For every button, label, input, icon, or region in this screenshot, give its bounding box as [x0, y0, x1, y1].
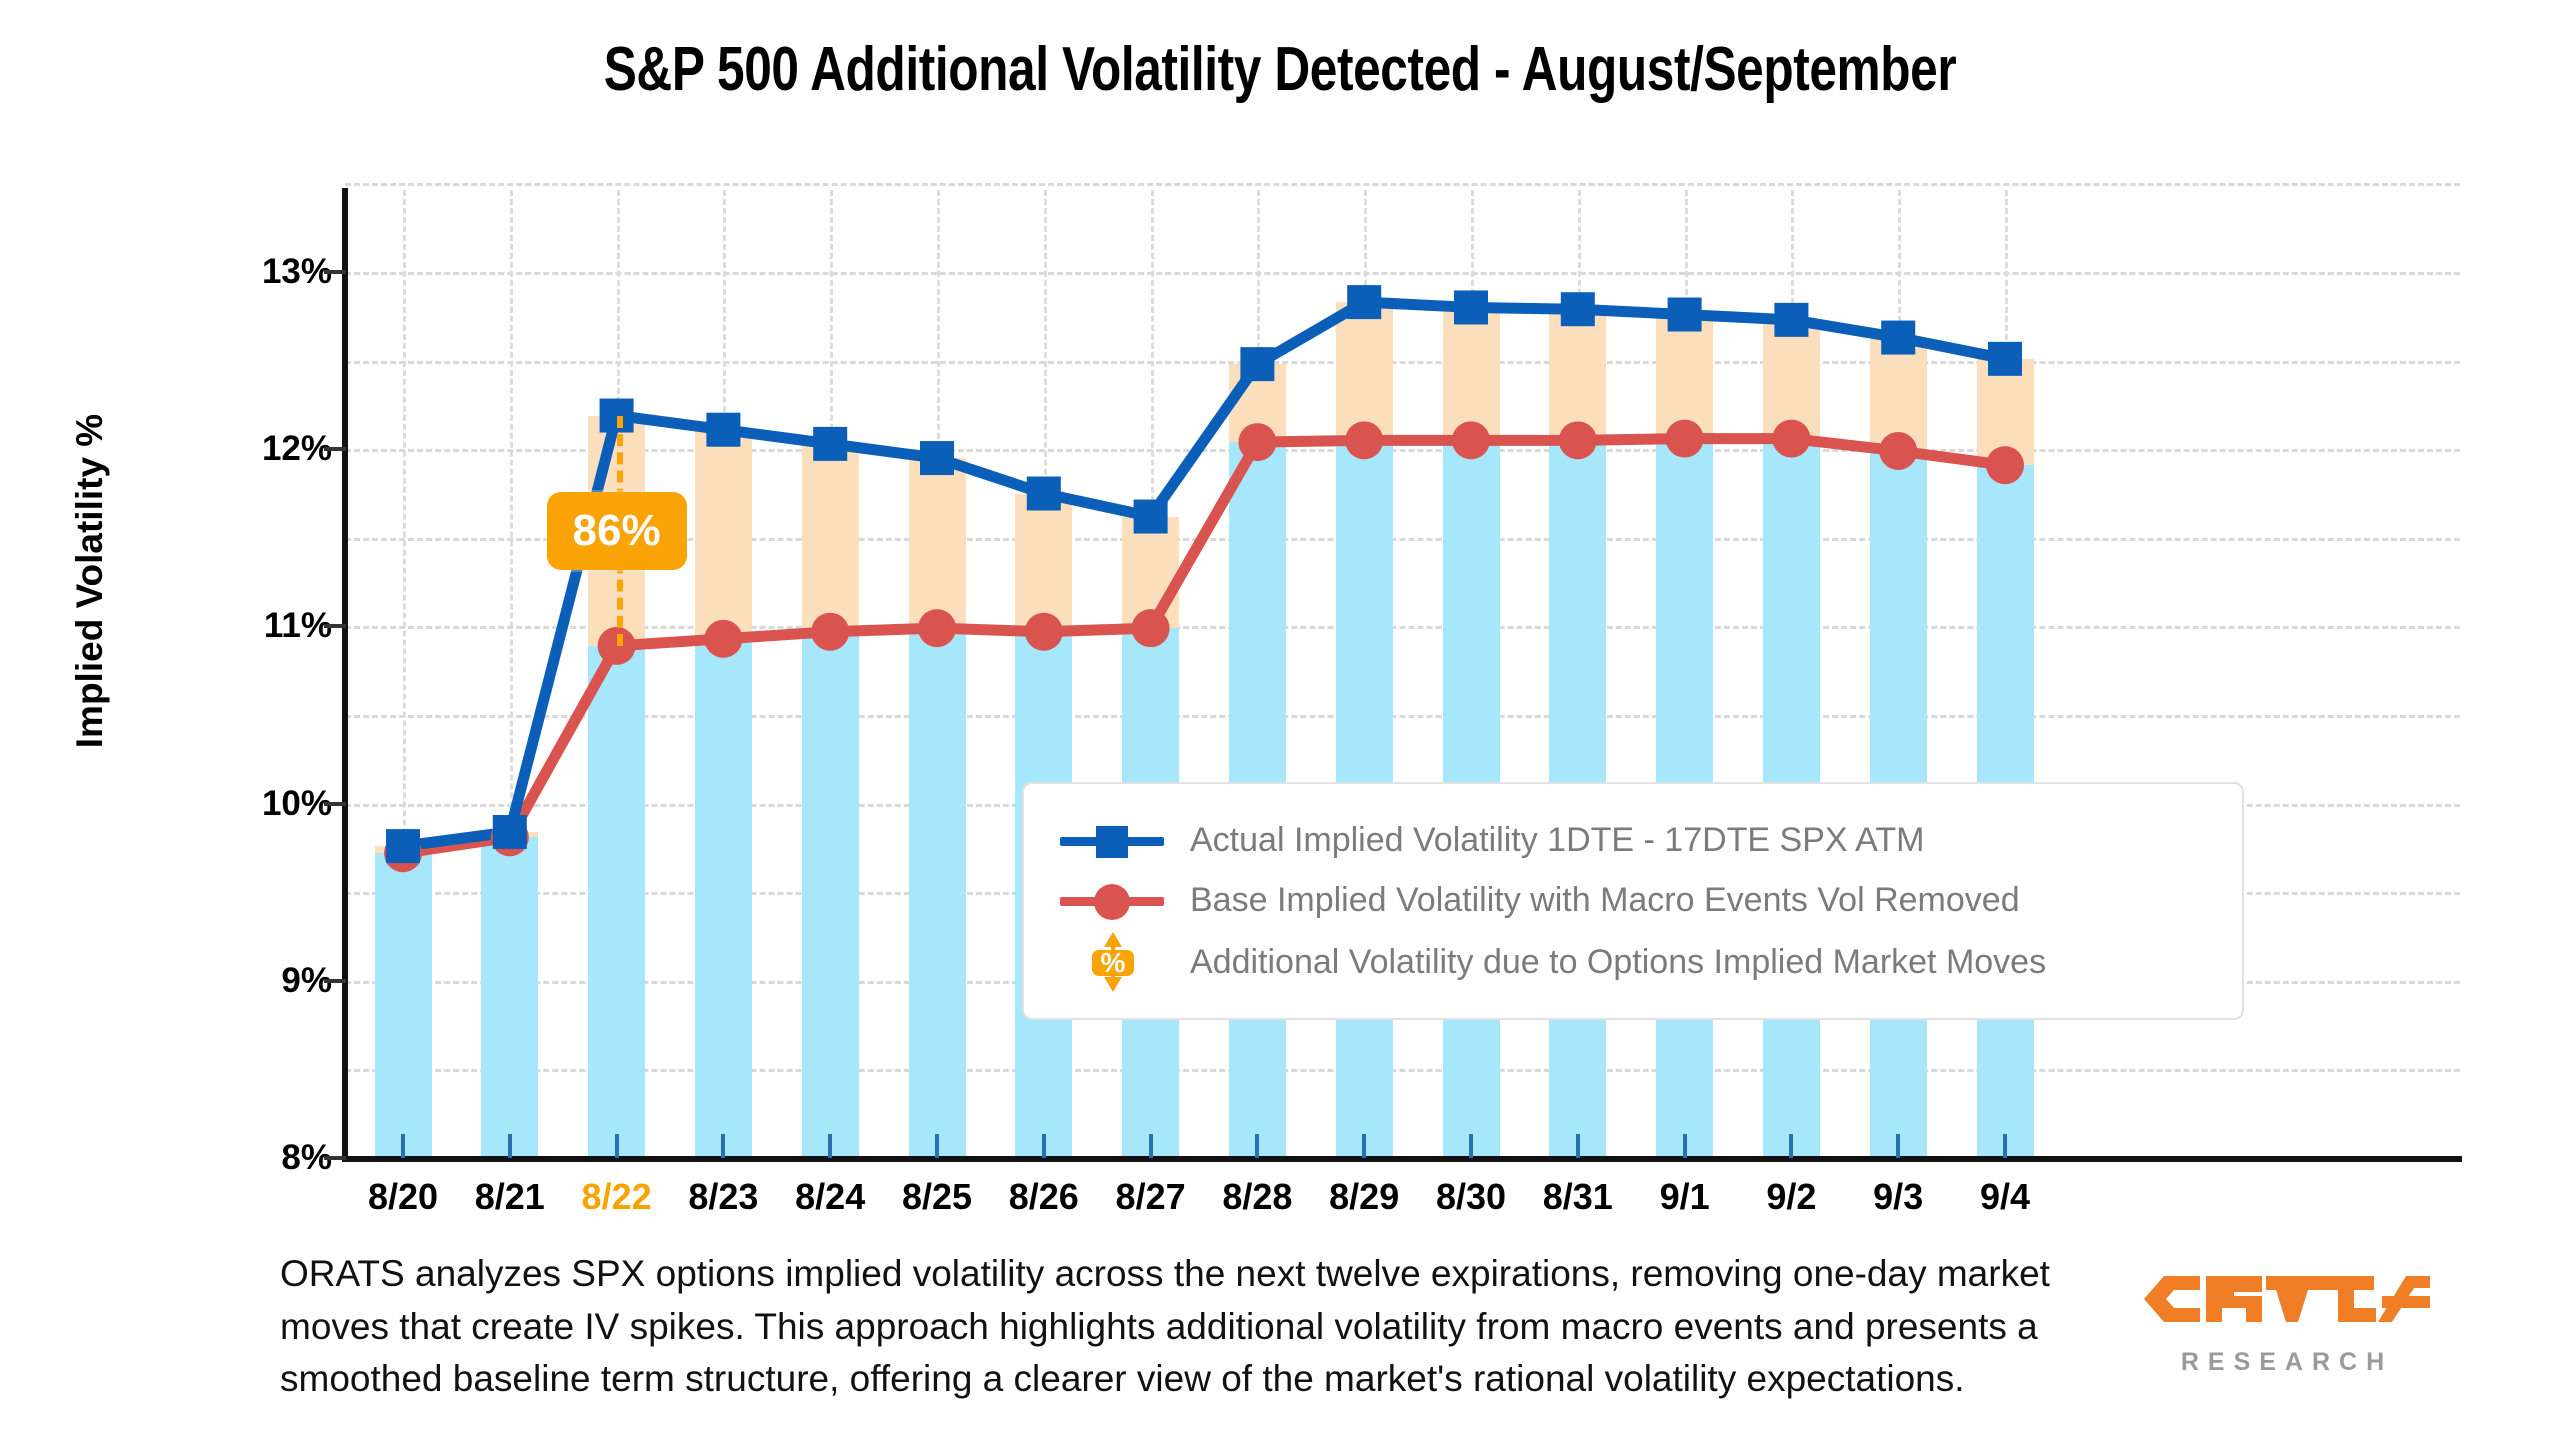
y-tick-mark: [324, 624, 346, 628]
x-tick-label-9-1: 9/1: [1660, 1176, 1710, 1218]
legend-item-base-iv[interactable]: Base Implied Volatility with Macro Event…: [1052, 870, 2020, 930]
actual-volatility-line: [403, 302, 2005, 846]
x-tick-label-8-30: 8/30: [1436, 1176, 1506, 1218]
x-tick-mark: [721, 1134, 725, 1158]
actual-point-8-24: [813, 427, 847, 461]
x-tick-label-8-28: 8/28: [1222, 1176, 1292, 1218]
legend-label-additional-vol: Additional Volatility due to Options Imp…: [1190, 943, 2046, 982]
y-tick-mark: [324, 802, 346, 806]
actual-point-8-31: [1561, 292, 1595, 326]
x-tick-mark: [401, 1134, 405, 1158]
x-tick-mark: [1896, 1134, 1900, 1158]
base-point-8-26: [1025, 613, 1063, 651]
x-tick-label-8-27: 8/27: [1116, 1176, 1186, 1218]
x-tick-mark: [1576, 1134, 1580, 1158]
legend-label-base-iv: Base Implied Volatility with Macro Event…: [1190, 881, 2020, 920]
x-tick-mark: [1362, 1134, 1366, 1158]
x-tick-mark: [1255, 1134, 1259, 1158]
x-tick-label-9-3: 9/3: [1873, 1176, 1923, 1218]
base-point-8-24: [811, 613, 849, 651]
base-iv-circle-marker-icon: [1052, 870, 1172, 930]
x-tick-label-9-4: 9/4: [1980, 1176, 2030, 1218]
y-axis-title: Implied Volatility %: [69, 341, 111, 821]
y-tick-label-11pct: 11%: [264, 606, 332, 646]
base-point-9-1: [1666, 420, 1704, 458]
x-tick-mark: [1149, 1134, 1153, 1158]
x-tick-mark: [1042, 1134, 1046, 1158]
base-point-8-28: [1238, 423, 1276, 461]
base-point-9-2: [1772, 420, 1810, 458]
x-tick-label-8-31: 8/31: [1543, 1176, 1613, 1218]
base-point-9-4: [1986, 446, 2024, 484]
legend-label-actual-iv: Actual Implied Volatility 1DTE - 17DTE S…: [1190, 821, 1924, 860]
actual-point-9-2: [1774, 303, 1808, 337]
actual-point-8-29: [1347, 285, 1381, 319]
x-tick-label-8-23: 8/23: [688, 1176, 758, 1218]
actual-point-9-3: [1881, 321, 1915, 355]
gridline-horizontal: [345, 183, 2460, 186]
x-tick-mark: [828, 1134, 832, 1158]
additional-volatility-callout[interactable]: 86%: [547, 492, 687, 570]
x-tick-mark: [1683, 1134, 1687, 1158]
actual-iv-square-marker-icon: [1052, 810, 1172, 870]
base-point-9-3: [1879, 432, 1917, 470]
legend-item-additional-vol[interactable]: % Additional Volatility due to Options I…: [1052, 932, 2046, 992]
orats-logo-subtitle: RESEARCH: [2142, 1348, 2432, 1377]
x-tick-label-9-2: 9/2: [1766, 1176, 1816, 1218]
actual-point-8-21: [493, 815, 527, 849]
actual-point-8-27: [1134, 500, 1168, 534]
x-tick-label-8-24: 8/24: [795, 1176, 865, 1218]
y-tick-mark: [324, 447, 346, 451]
y-tick-mark: [324, 270, 346, 274]
actual-point-9-4: [1988, 342, 2022, 376]
x-tick-label-8-22: 8/22: [582, 1176, 652, 1218]
footer-description: ORATS analyzes SPX options implied volat…: [280, 1248, 2110, 1406]
x-tick-mark: [508, 1134, 512, 1158]
base-point-8-27: [1132, 609, 1170, 647]
y-tick-label-12pct: 12%: [262, 429, 332, 469]
actual-point-8-30: [1454, 290, 1488, 324]
x-tick-label-8-25: 8/25: [902, 1176, 972, 1218]
base-point-8-31: [1559, 421, 1597, 459]
x-tick-label-8-26: 8/26: [1009, 1176, 1079, 1218]
x-tick-mark: [1789, 1134, 1793, 1158]
x-tick-mark: [935, 1134, 939, 1158]
actual-point-8-20: [386, 829, 420, 863]
y-axis-line: [342, 188, 348, 1160]
actual-point-8-26: [1027, 477, 1061, 511]
x-tick-mark: [2003, 1134, 2007, 1158]
x-tick-mark: [615, 1134, 619, 1158]
percent-updown-icon: %: [1052, 932, 1172, 992]
y-tick-label-10pct: 10%: [262, 784, 332, 824]
actual-point-8-23: [706, 413, 740, 447]
x-tick-label-8-20: 8/20: [368, 1176, 438, 1218]
chart-canvas: 13%12%11%10%9%8% 8/208/218/228/238/248/2…: [0, 0, 2560, 1230]
base-point-8-25: [918, 609, 956, 647]
base-point-8-23: [704, 620, 742, 658]
x-tick-label-8-29: 8/29: [1329, 1176, 1399, 1218]
orats-logo: [2138, 1258, 2438, 1345]
actual-point-8-25: [920, 441, 954, 475]
base-point-8-30: [1452, 421, 1490, 459]
actual-point-8-28: [1240, 347, 1274, 381]
x-tick-mark: [1469, 1134, 1473, 1158]
legend-item-actual-iv[interactable]: Actual Implied Volatility 1DTE - 17DTE S…: [1052, 810, 1924, 870]
x-axis-line: [342, 1156, 2462, 1162]
y-tick-label-13pct: 13%: [262, 252, 332, 292]
actual-volatility-markers: [386, 285, 2022, 863]
y-tick-mark: [324, 979, 346, 983]
base-point-8-29: [1345, 421, 1383, 459]
y-tick-mark: [324, 1156, 346, 1160]
actual-point-9-1: [1668, 298, 1702, 332]
x-tick-label-8-21: 8/21: [475, 1176, 545, 1218]
chart-legend[interactable]: Actual Implied Volatility 1DTE - 17DTE S…: [1022, 782, 2244, 1020]
